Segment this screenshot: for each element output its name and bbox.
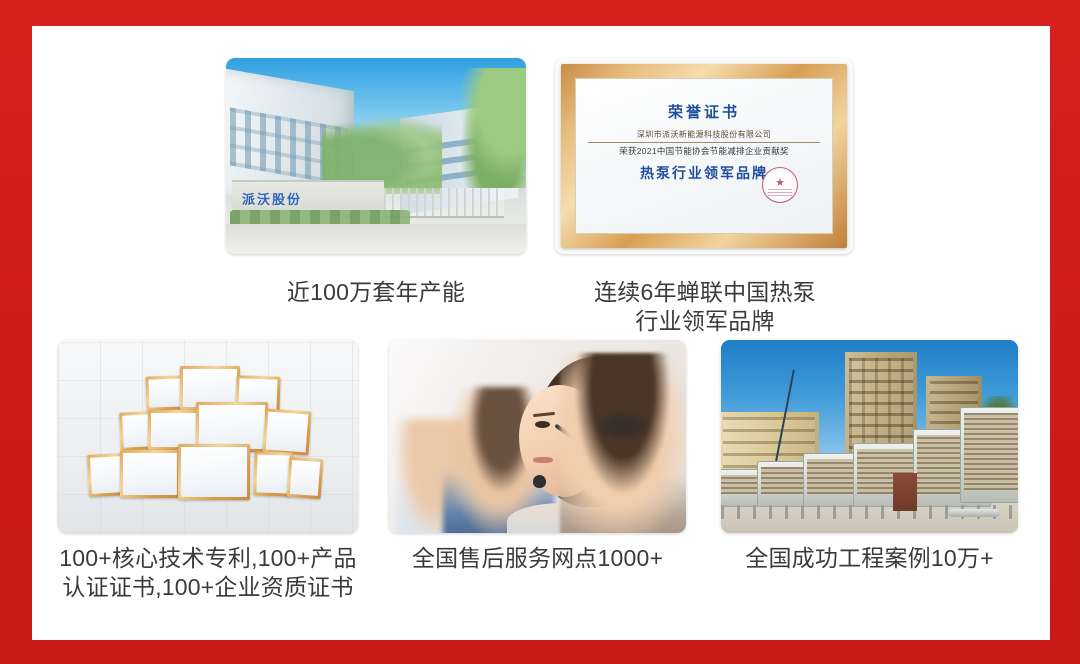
- caption-patents-and-certificates: 100+核心技术专利,100+产品 认证证书,100+企业资质证书: [38, 544, 378, 603]
- heat-pump-unit-front: [960, 407, 1018, 503]
- call-center-photo[interactable]: [389, 340, 686, 533]
- honor-certificate-photo[interactable]: 荣誉证书 深圳市派沃新能源科技股份有限公司 荣获2021中国节能协会节能减排企业…: [555, 58, 853, 254]
- agent-mouth: [533, 457, 553, 463]
- certificate-gold-frame: 荣誉证书 深圳市派沃新能源科技股份有限公司 荣获2021中国节能协会节能减排企业…: [561, 64, 847, 248]
- caption-annual-capacity: 近100万套年产能: [226, 278, 526, 307]
- caption-leading-brand: 连续6年蝉联中国热泵 行业领军品牌: [545, 278, 865, 337]
- official-red-seal: [762, 167, 798, 203]
- heat-pump-unit: [757, 461, 809, 507]
- certificate-award-line: 荣获2021中国节能协会节能减排企业贡献奖: [584, 145, 824, 157]
- heat-pump-unit: [721, 469, 761, 507]
- factory-photo-content: 派沃股份: [226, 58, 526, 254]
- utility-cabinet: [893, 473, 917, 511]
- factory-campus-photo[interactable]: 派沃股份: [226, 58, 526, 254]
- certificate-title: 荣誉证书: [576, 101, 832, 122]
- certificate-frame: [178, 444, 250, 500]
- caption-project-cases: 全国成功工程案例10万+: [721, 544, 1018, 573]
- agent-eye: [535, 421, 550, 428]
- edge-tree: [456, 68, 526, 188]
- road-region: [226, 224, 526, 254]
- certificate-mat: 荣誉证书 深圳市派沃新能源科技股份有限公司 荣获2021中国节能协会节能减排企业…: [575, 78, 833, 234]
- headset-microphone: [533, 475, 546, 488]
- certificates-pyramid-photo[interactable]: [58, 340, 358, 533]
- connecting-pipe: [948, 509, 1000, 517]
- certificate-company-name: 深圳市派沃新能源科技股份有限公司: [588, 129, 820, 143]
- slide-root: 派沃股份 近100万套年产能 荣誉证书 深圳市派沃新能源科技股份有限公司 荣获2…: [0, 0, 1080, 664]
- factory-wall-sign-text: 派沃股份: [242, 189, 302, 208]
- caption-service-network: 全国售后服务网点1000+: [389, 544, 686, 573]
- foreground-agent-right: [560, 353, 686, 533]
- certificate-frame: [263, 408, 312, 455]
- heat-pump-installation-photo[interactable]: [721, 340, 1018, 533]
- certificate-frame: [120, 450, 180, 498]
- white-content-panel: 派沃股份 近100万套年产能 荣誉证书 深圳市派沃新能源科技股份有限公司 荣获2…: [32, 26, 1050, 640]
- certificate-frame: [287, 457, 324, 499]
